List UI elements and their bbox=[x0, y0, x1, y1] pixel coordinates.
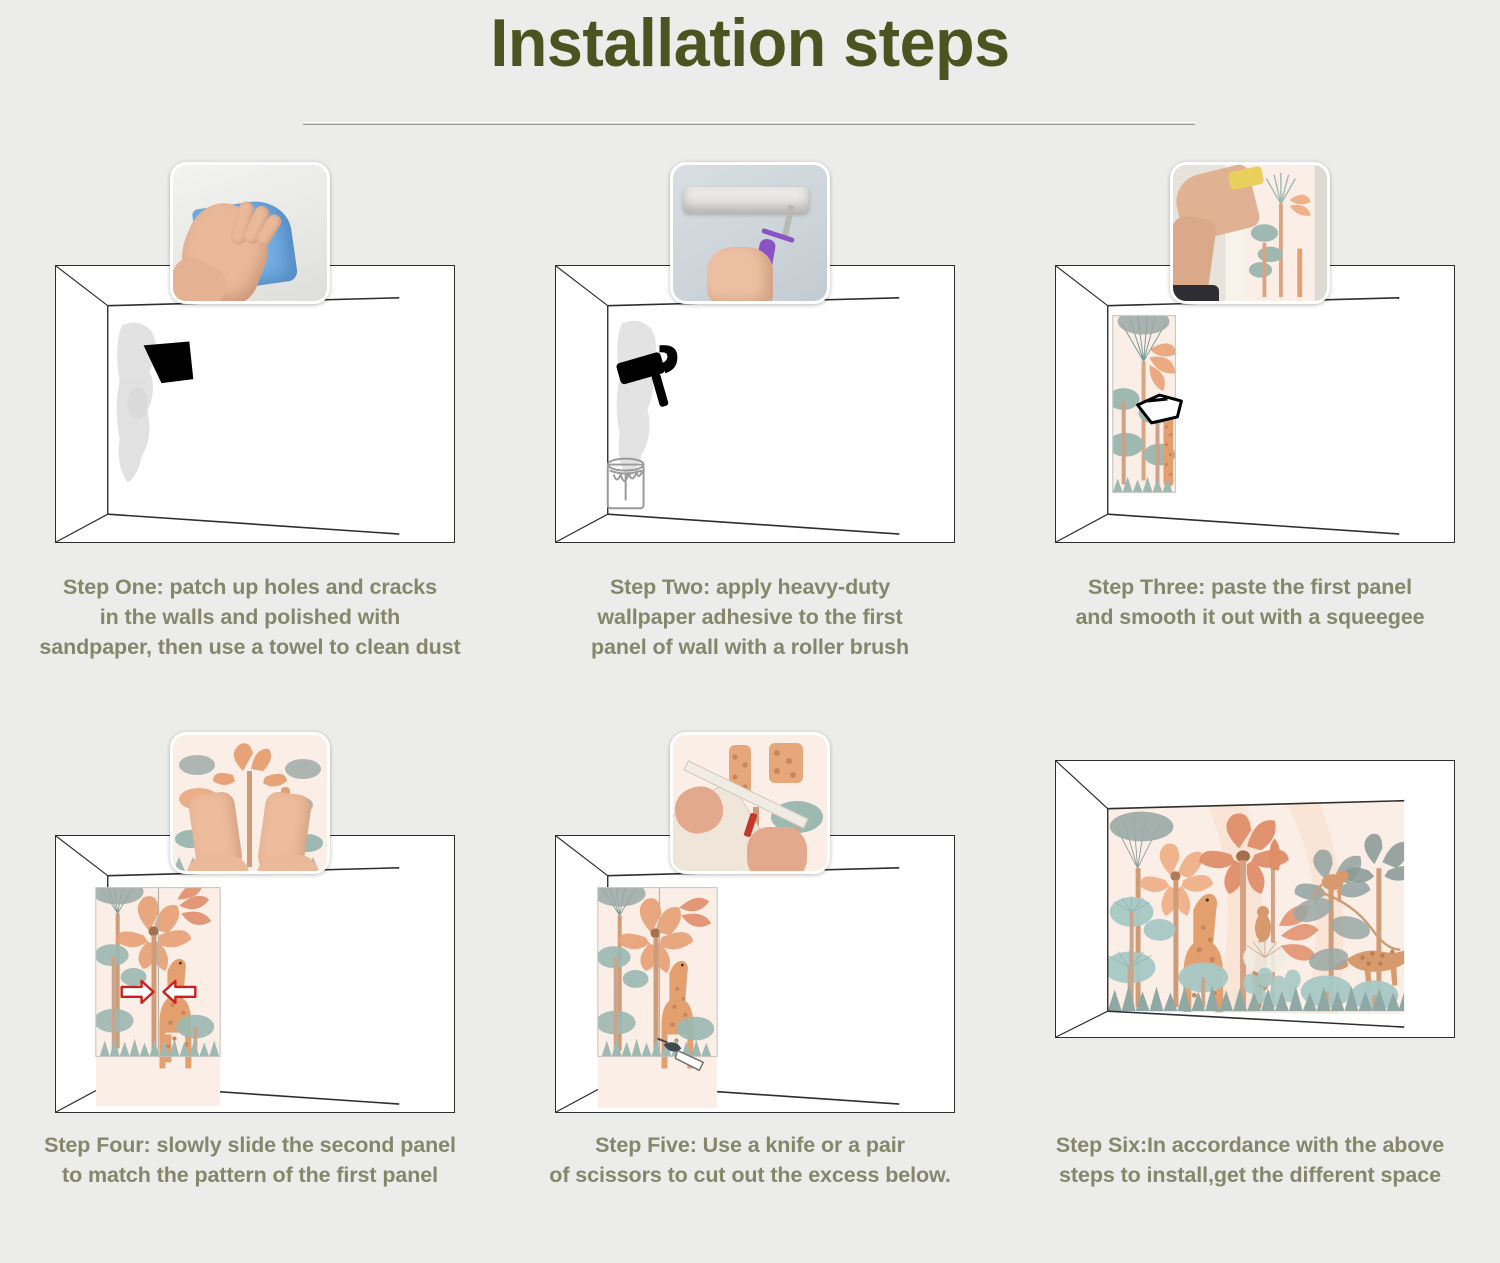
step-three-cell: Step Three: paste the first panel and sm… bbox=[1000, 160, 1500, 680]
step-two-caption: Step Two: apply heavy-duty wallpaper adh… bbox=[500, 572, 1000, 662]
room-with-roller-and-bucket-diagram bbox=[555, 265, 955, 543]
step-five-caption: Step Five: Use a knife or a pair of scis… bbox=[500, 1130, 1000, 1190]
step-six-cell: Step Six:In accordance with the above st… bbox=[1000, 730, 1500, 1250]
hand-holding-paint-roller-photo bbox=[670, 162, 830, 304]
two-hands-sliding-wallpaper-panels-photo bbox=[170, 732, 330, 874]
step-six-caption: Step Six:In accordance with the above st… bbox=[1000, 1130, 1500, 1190]
step-five-cell: Step Five: Use a knife or a pair of scis… bbox=[500, 730, 1000, 1250]
title-divider bbox=[303, 122, 1195, 125]
room-with-completed-jungle-mural-diagram bbox=[1055, 760, 1455, 1038]
steps-grid: Step One: patch up holes and cracks in t… bbox=[0, 160, 1500, 1250]
room-with-patch-trowel-diagram bbox=[55, 265, 455, 543]
steps-row-top: Step One: patch up holes and cracks in t… bbox=[0, 160, 1500, 680]
step-four-caption: Step Four: slowly slide the second panel… bbox=[0, 1130, 500, 1190]
installation-steps-page: Installation steps bbox=[0, 0, 1500, 1263]
step-three-caption: Step Three: paste the first panel and sm… bbox=[1000, 572, 1500, 632]
person-smoothing-wallpaper-panel-photo bbox=[1170, 162, 1330, 304]
room-with-two-panels-and-match-arrows-diagram bbox=[55, 835, 455, 1113]
step-one-caption: Step One: patch up holes and cracks in t… bbox=[0, 572, 500, 662]
page-title: Installation steps bbox=[38, 4, 1463, 82]
room-with-first-panel-diagram bbox=[1055, 265, 1455, 543]
step-two-cell: Step Two: apply heavy-duty wallpaper adh… bbox=[500, 160, 1000, 680]
hands-cutting-wallpaper-with-knife-photo bbox=[670, 732, 830, 874]
room-with-trimmed-panels-diagram bbox=[555, 835, 955, 1113]
step-one-cell: Step One: patch up holes and cracks in t… bbox=[0, 160, 500, 680]
hand-wiping-wall-with-blue-cloth-photo bbox=[170, 162, 330, 304]
step-four-cell: Step Four: slowly slide the second panel… bbox=[0, 730, 500, 1250]
steps-row-bottom: Step Four: slowly slide the second panel… bbox=[0, 730, 1500, 1250]
